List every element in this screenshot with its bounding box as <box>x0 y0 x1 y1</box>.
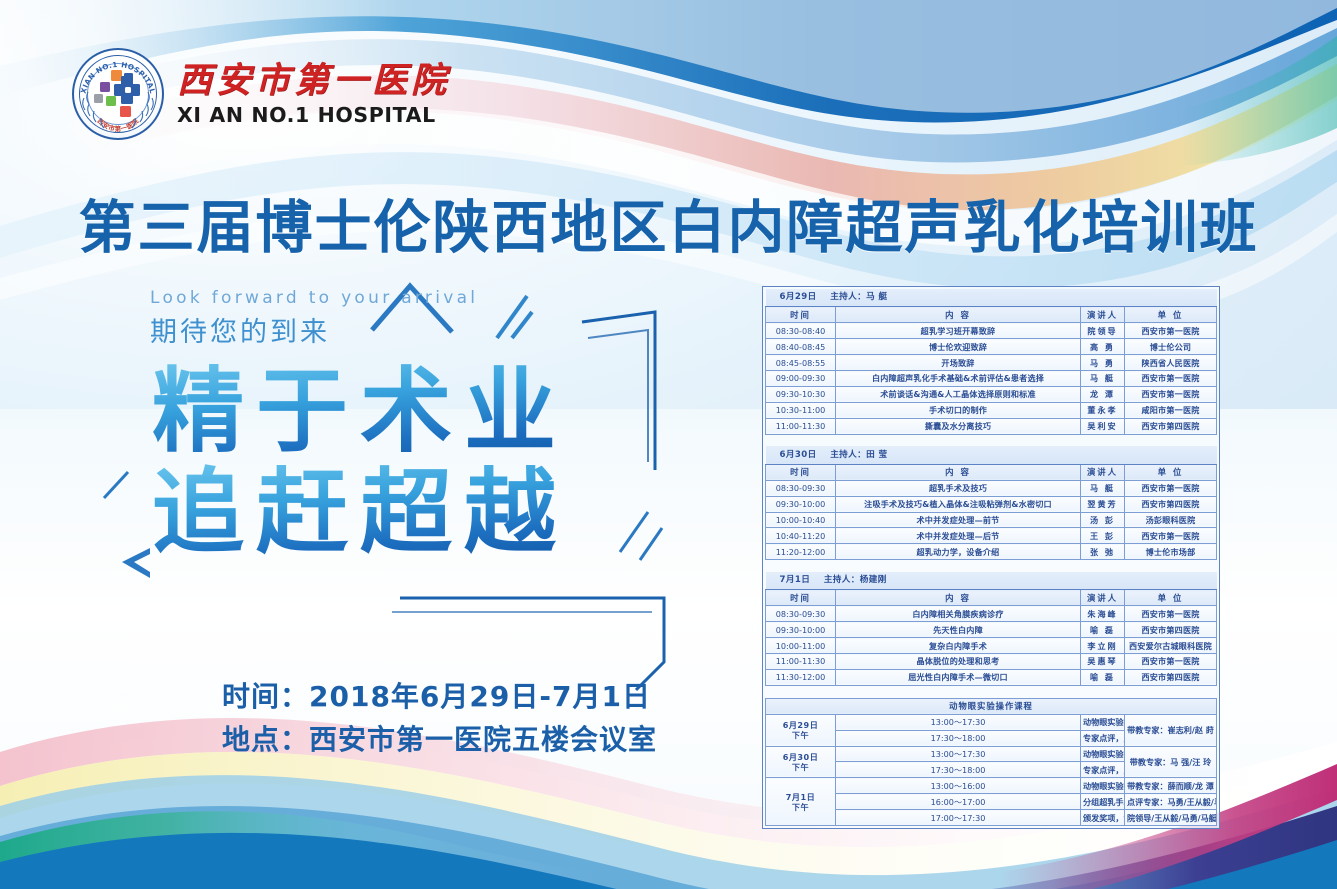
cell-speaker: 董永孝 <box>1081 402 1125 418</box>
cell-speaker: 汤 彭 <box>1081 512 1125 528</box>
schedule-row: 10:40-11:20术中并发症处理—后节王 彭西安市第一医院 <box>766 528 1217 544</box>
cell-time: 09:30-10:00 <box>766 496 836 512</box>
cell-time: 09:00-09:30 <box>766 371 836 387</box>
cell-speaker: 喻 磊 <box>1081 669 1125 685</box>
cell-unit: 咸阳市第一医院 <box>1125 402 1217 418</box>
cell-time: 11:00-11:30 <box>766 418 836 434</box>
schedule-row: 08:30-09:30超乳手术及技巧马 艇西安市第一医院 <box>766 480 1217 496</box>
day-header-text: 6月30日 主持人：田 莹 <box>766 446 1217 464</box>
cell-lab-activity: 颁发奖项，证书 <box>1081 810 1125 826</box>
cell-time: 09:30-10:30 <box>766 386 836 402</box>
cell-lab-time: 13:00～17:30 <box>836 714 1081 730</box>
schedule-table: 6月29日 主持人：马 艇时间内 容演讲人单 位08:30-08:40超乳学习班… <box>765 289 1217 826</box>
cell-topic: 屈光性白内障手术—微切口 <box>836 669 1081 685</box>
column-header: 内 容 <box>836 590 1081 606</box>
cell-topic: 先天性白内障 <box>836 622 1081 638</box>
cell-unit: 西安市第一医院 <box>1125 480 1217 496</box>
cell-time: 11:30-12:00 <box>766 669 836 685</box>
cell-lab-day: 6月30日下午 <box>766 746 836 778</box>
column-header: 内 容 <box>836 464 1081 480</box>
schedule-row: 09:30-10:00注吸手术及技巧&植入晶体&注吸粘弹剂&水密切口翌黄芳西安市… <box>766 496 1217 512</box>
cell-time: 10:00-11:00 <box>766 638 836 654</box>
column-header: 单 位 <box>1125 307 1217 323</box>
cell-unit: 博士伦市场部 <box>1125 544 1217 560</box>
cell-speaker: 王 彭 <box>1081 528 1125 544</box>
cell-unit: 西安爱尔古城眼科医院 <box>1125 638 1217 654</box>
cell-speaker: 翌黄芳 <box>1081 496 1125 512</box>
day-header-text: 6月29日 主持人：马 艇 <box>766 289 1217 307</box>
schedule-day-header: 6月29日 主持人：马 艇 <box>766 289 1217 307</box>
cell-time: 11:20-12:00 <box>766 544 836 560</box>
cell-time: 10:00-10:40 <box>766 512 836 528</box>
schedule-day-header: 6月30日 主持人：田 莹 <box>766 446 1217 464</box>
schedule-row: 09:00-09:30白内障超声乳化手术基础&术前评估&患者选择马 艇西安市第一… <box>766 371 1217 387</box>
schedule-row: 10:00-10:40术中并发症处理—前节汤 彭汤彭眼科医院 <box>766 512 1217 528</box>
hospital-name-en: XI AN NO.1 HOSPITAL <box>177 103 450 127</box>
cell-topic: 手术切口的制作 <box>836 402 1081 418</box>
cell-lab-teachers: 带教专家：马 强/汪 玲 <box>1125 746 1217 778</box>
schedule-row: 08:30-08:40超乳学习班开幕致辞院领导西安市第一医院 <box>766 323 1217 339</box>
cell-topic: 撕囊及水分离技巧 <box>836 418 1081 434</box>
cell-topic: 复杂白内障手术 <box>836 638 1081 654</box>
event-info: 时间：2018年6月29日-7月1日 地点：西安市第一医院五楼会议室 <box>222 676 657 761</box>
schedule-column-header: 时间内 容演讲人单 位 <box>766 307 1217 323</box>
schedule-panel: 6月29日 主持人：马 艇时间内 容演讲人单 位08:30-08:40超乳学习班… <box>762 286 1220 829</box>
hospital-emblem-icon: XIAN NO.1 HOSPITAL 西安市第一医院 <box>72 48 164 140</box>
cell-time: 08:30-09:30 <box>766 480 836 496</box>
cell-unit: 西安市第四医院 <box>1125 669 1217 685</box>
schedule-row: 09:30-10:00先天性白内障喻 磊西安市第四医院 <box>766 622 1217 638</box>
schedule-spacer <box>766 560 1217 572</box>
arrow-left-decoration <box>104 472 150 578</box>
schedule-column-header: 时间内 容演讲人单 位 <box>766 590 1217 606</box>
column-header: 演讲人 <box>1081 464 1125 480</box>
cell-lab-time: 17:00～17:30 <box>836 810 1081 826</box>
schedule-row: 11:30-12:00屈光性白内障手术—微切口喻 磊西安市第四医院 <box>766 669 1217 685</box>
poster-title: 第三届博士伦陕西地区白内障超声乳化培训班 <box>0 182 1337 264</box>
emblem-cross-icon <box>94 70 142 118</box>
cell-unit: 西安市第一医院 <box>1125 654 1217 670</box>
cell-time: 08:30-08:40 <box>766 323 836 339</box>
schedule-row: 11:00-11:30晶体脱位的处理和思考吴惠琴西安市第一医院 <box>766 654 1217 670</box>
cell-topic: 晶体脱位的处理和思考 <box>836 654 1081 670</box>
cell-lab-activity: 专家点评，总结 <box>1081 762 1125 778</box>
slogan-subtitle-cn: 期待您的到来 <box>150 310 710 349</box>
slogan-block: Look forward to your arrival 期待您的到来 精于术业… <box>150 288 710 566</box>
cell-speaker: 李立刚 <box>1081 638 1125 654</box>
cell-unit: 西安市第一医院 <box>1125 528 1217 544</box>
cell-speaker: 马 勇 <box>1081 355 1125 371</box>
cell-time: 11:00-11:30 <box>766 654 836 670</box>
cell-lab-teachers: 带教专家：崔志利/赵 莳 <box>1125 714 1217 746</box>
cell-lab-activity: 分组超乳手术比赛，评分 <box>1081 794 1125 810</box>
cell-speaker: 龙 潭 <box>1081 386 1125 402</box>
schedule-spacer <box>766 685 1217 698</box>
cell-speaker: 高 勇 <box>1081 339 1125 355</box>
cell-lab-day: 7月1日下午 <box>766 778 836 826</box>
cell-unit: 西安市第四医院 <box>1125 496 1217 512</box>
cell-topic: 注吸手术及技巧&植入晶体&注吸粘弹剂&水密切口 <box>836 496 1081 512</box>
schedule-row: 11:20-12:00超乳动力学，设备介绍张 弛博士伦市场部 <box>766 544 1217 560</box>
cell-speaker: 马 艇 <box>1081 480 1125 496</box>
event-place: 地点：西安市第一医院五楼会议室 <box>222 719 657 762</box>
cell-topic: 开场致辞 <box>836 355 1081 371</box>
cell-unit: 西安市第四医院 <box>1125 622 1217 638</box>
lab-row: 7月1日下午13:00～16:00动物眼实验操作带教专家：薛而顺/龙 潭 <box>766 778 1217 794</box>
column-header: 时间 <box>766 464 836 480</box>
schedule-spacer <box>766 434 1217 446</box>
hospital-name-cn: 西安市第一医院 <box>177 63 450 100</box>
cell-time: 08:40-08:45 <box>766 339 836 355</box>
cell-time: 10:40-11:20 <box>766 528 836 544</box>
cell-topic: 术中并发症处理—前节 <box>836 512 1081 528</box>
column-header: 时间 <box>766 307 836 323</box>
cell-unit: 西安市第一医院 <box>1125 386 1217 402</box>
lab-section-title: 动物眼实验操作课程 <box>766 698 1217 714</box>
cell-lab-time: 17:30～18:00 <box>836 730 1081 746</box>
cell-speaker: 吴利安 <box>1081 418 1125 434</box>
cell-lab-activity: 动物眼实验操作 <box>1081 746 1125 762</box>
cell-unit: 汤彭眼科医院 <box>1125 512 1217 528</box>
cell-speaker: 院领导 <box>1081 323 1125 339</box>
cell-lab-time: 17:30～18:00 <box>836 762 1081 778</box>
cell-topic: 超乳学习班开幕致辞 <box>836 323 1081 339</box>
schedule-row: 11:00-11:30撕囊及水分离技巧吴利安西安市第四医院 <box>766 418 1217 434</box>
cell-lab-teachers: 院领导/王从毅/马勇/马艇 <box>1125 810 1217 826</box>
cell-unit: 博士伦公司 <box>1125 339 1217 355</box>
schedule-row: 08:30-09:30白内障相关角膜疾病诊疗朱海峰西安市第一医院 <box>766 606 1217 622</box>
cell-lab-activity: 动物眼实验操作 <box>1081 778 1125 794</box>
cell-topic: 术中并发症处理—后节 <box>836 528 1081 544</box>
schedule-row: 08:45-08:55开场致辞马 勇陕西省人民医院 <box>766 355 1217 371</box>
cell-lab-time: 13:00～17:30 <box>836 746 1081 762</box>
cell-unit: 陕西省人民医院 <box>1125 355 1217 371</box>
slogan-line-1: 精于术业 <box>152 359 710 466</box>
cell-lab-time: 13:00～16:00 <box>836 778 1081 794</box>
cell-lab-activity: 专家点评，总结 <box>1081 730 1125 746</box>
cell-topic: 术前谈话&沟通&人工晶体选择原则和标准 <box>836 386 1081 402</box>
cell-topic: 博士伦欢迎致辞 <box>836 339 1081 355</box>
column-header: 演讲人 <box>1081 307 1125 323</box>
lab-title-text: 动物眼实验操作课程 <box>766 698 1217 714</box>
cell-topic: 超乳手术及技巧 <box>836 480 1081 496</box>
slogan-english: Look forward to your arrival <box>150 288 710 308</box>
hospital-logo: XIAN NO.1 HOSPITAL 西安市第一医院 <box>72 48 450 140</box>
cell-time: 08:45-08:55 <box>766 355 836 371</box>
cell-speaker: 喻 磊 <box>1081 622 1125 638</box>
day-header-text: 7月1日 主持人：杨建刚 <box>766 572 1217 590</box>
cell-speaker: 张 弛 <box>1081 544 1125 560</box>
cell-unit: 西安市第四医院 <box>1125 418 1217 434</box>
cell-lab-activity: 动物眼实验操作 <box>1081 714 1125 730</box>
cell-lab-teachers: 带教专家：薛而顺/龙 潭 <box>1125 778 1217 794</box>
cell-speaker: 吴惠琴 <box>1081 654 1125 670</box>
schedule-row: 09:30-10:30术前谈话&沟通&人工晶体选择原则和标准龙 潭西安市第一医院 <box>766 386 1217 402</box>
column-header: 内 容 <box>836 307 1081 323</box>
cell-unit: 西安市第一医院 <box>1125 606 1217 622</box>
schedule-row: 08:40-08:45博士伦欢迎致辞高 勇博士伦公司 <box>766 339 1217 355</box>
column-header: 时间 <box>766 590 836 606</box>
event-time: 时间：2018年6月29日-7月1日 <box>222 676 657 719</box>
cell-time: 10:30-11:00 <box>766 402 836 418</box>
slogan-line-2: 追赶超越 <box>152 460 710 567</box>
cell-topic: 白内障超声乳化手术基础&术前评估&患者选择 <box>836 371 1081 387</box>
cell-topic: 超乳动力学，设备介绍 <box>836 544 1081 560</box>
cell-unit: 西安市第一医院 <box>1125 323 1217 339</box>
cell-lab-day: 6月29日下午 <box>766 714 836 746</box>
cell-speaker: 朱海峰 <box>1081 606 1125 622</box>
schedule-row: 10:30-11:00手术切口的制作董永孝咸阳市第一医院 <box>766 402 1217 418</box>
cell-unit: 西安市第一医院 <box>1125 371 1217 387</box>
schedule-day-header: 7月1日 主持人：杨建刚 <box>766 572 1217 590</box>
column-header: 单 位 <box>1125 590 1217 606</box>
cell-topic: 白内障相关角膜疾病诊疗 <box>836 606 1081 622</box>
lab-row: 6月30日下午13:00～17:30动物眼实验操作带教专家：马 强/汪 玲 <box>766 746 1217 762</box>
cell-lab-teachers: 点评专家：马勇/王从毅/马艇 <box>1125 794 1217 810</box>
cell-lab-time: 16:00～17:00 <box>836 794 1081 810</box>
schedule-column-header: 时间内 容演讲人单 位 <box>766 464 1217 480</box>
poster-canvas: XIAN NO.1 HOSPITAL 西安市第一医院 <box>0 0 1337 889</box>
cell-time: 08:30-09:30 <box>766 606 836 622</box>
cell-time: 09:30-10:00 <box>766 622 836 638</box>
lab-row: 6月29日下午13:00～17:30动物眼实验操作带教专家：崔志利/赵 莳 <box>766 714 1217 730</box>
schedule-row: 10:00-11:00复杂白内障手术李立刚西安爱尔古城眼科医院 <box>766 638 1217 654</box>
cell-speaker: 马 艇 <box>1081 371 1125 387</box>
column-header: 演讲人 <box>1081 590 1125 606</box>
column-header: 单 位 <box>1125 464 1217 480</box>
